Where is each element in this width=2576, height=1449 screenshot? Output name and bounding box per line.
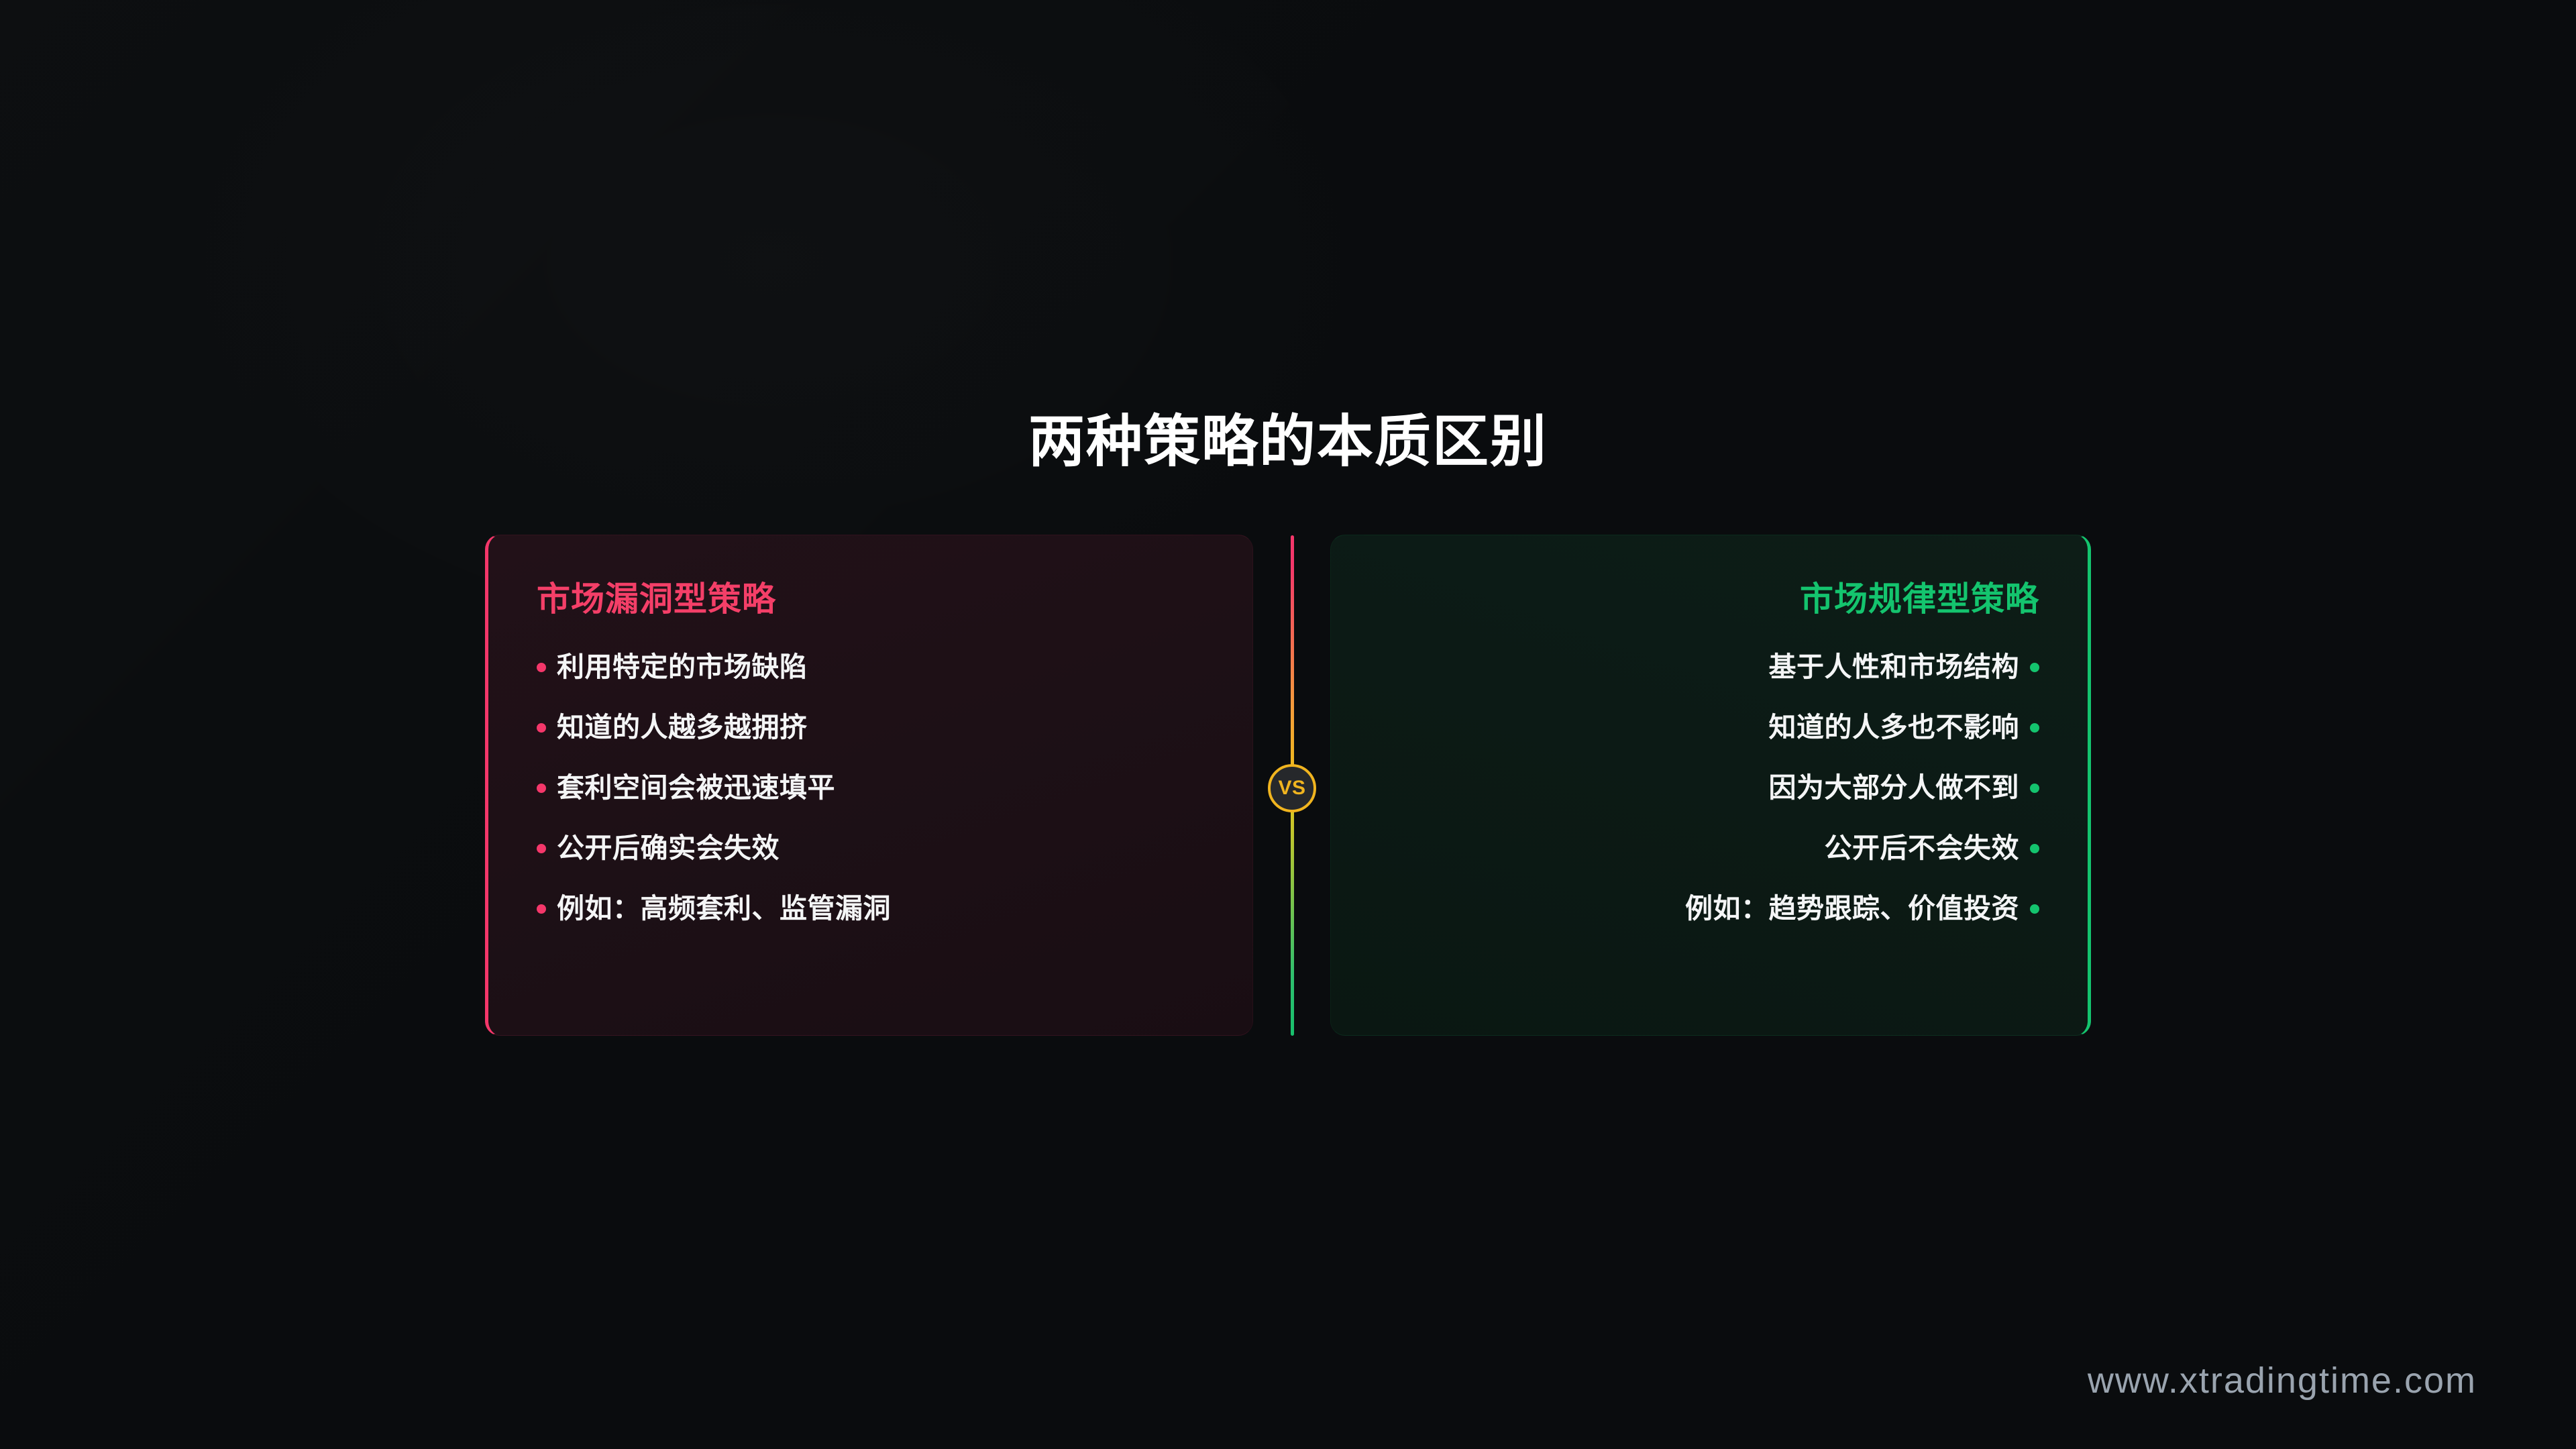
bullet-dot-icon [537, 844, 546, 853]
bullet-dot-icon [2030, 904, 2039, 914]
bullet-dot-icon [537, 723, 546, 733]
right-card-heading: 市场规律型策略 [1379, 582, 2039, 616]
right-strategy-card: 市场规律型策略 基于人性和市场结构 知道的人多也不影响 因为大部分人做不到 公开… [1330, 535, 2091, 1036]
bullet-dot-icon [2030, 663, 2039, 672]
bullet-label: 例如：高频套利、监管漏洞 [557, 895, 891, 922]
bullet-label: 公开后确实会失效 [557, 835, 780, 862]
list-item: 基于人性和市场结构 [1379, 652, 2039, 682]
list-item: 因为大部分人做不到 [1379, 773, 2039, 803]
list-item: 知道的人越多越拥挤 [537, 712, 1204, 743]
bullet-label: 套利空间会被迅速填平 [557, 774, 835, 802]
bullet-label: 因为大部分人做不到 [1769, 774, 2020, 802]
bullet-label: 例如：趋势跟踪、价值投资 [1685, 895, 2019, 922]
bullet-label: 利用特定的市场缺陷 [557, 653, 808, 681]
slide-stage: 两种策略的本质区别 市场漏洞型策略 利用特定的市场缺陷 知道的人越多越拥挤 套利… [0, 0, 2576, 1449]
right-card-content: 市场规律型策略 基于人性和市场结构 知道的人多也不影响 因为大部分人做不到 公开… [1331, 535, 2088, 1035]
bullet-label: 公开后不会失效 [1825, 835, 2020, 862]
vs-badge-label: VS [1278, 778, 1305, 798]
list-item: 例如：高频套利、监管漏洞 [537, 894, 1204, 924]
bullet-label: 知道的人多也不影响 [1769, 714, 2020, 741]
bullet-dot-icon [2030, 784, 2039, 793]
list-item: 公开后不会失效 [1379, 833, 2039, 863]
bullet-dot-icon [2030, 723, 2039, 733]
list-item: 套利空间会被迅速填平 [537, 773, 1204, 803]
left-bullet-list: 利用特定的市场缺陷 知道的人越多越拥挤 套利空间会被迅速填平 公开后确实会失效 … [537, 652, 1204, 924]
watermark: www.xtradingtime.com [2088, 1362, 2477, 1399]
left-strategy-card: 市场漏洞型策略 利用特定的市场缺陷 知道的人越多越拥挤 套利空间会被迅速填平 公… [485, 535, 1253, 1036]
bullet-dot-icon [537, 904, 546, 914]
bullet-dot-icon [537, 663, 546, 672]
left-card-heading: 市场漏洞型策略 [537, 582, 1204, 616]
bullet-dot-icon [2030, 844, 2039, 853]
bullet-dot-icon [537, 784, 546, 793]
right-bullet-list: 基于人性和市场结构 知道的人多也不影响 因为大部分人做不到 公开后不会失效 例如… [1379, 652, 2039, 924]
list-item: 例如：趋势跟踪、价值投资 [1379, 894, 2039, 924]
bullet-label: 基于人性和市场结构 [1769, 653, 2020, 681]
vs-badge: VS [1268, 764, 1316, 812]
list-item: 公开后确实会失效 [537, 833, 1204, 863]
left-card-content: 市场漏洞型策略 利用特定的市场缺陷 知道的人越多越拥挤 套利空间会被迅速填平 公… [488, 535, 1252, 1035]
bullet-label: 知道的人越多越拥挤 [557, 714, 808, 741]
page-title: 两种策略的本质区别 [0, 411, 2576, 472]
list-item: 知道的人多也不影响 [1379, 712, 2039, 743]
list-item: 利用特定的市场缺陷 [537, 652, 1204, 682]
